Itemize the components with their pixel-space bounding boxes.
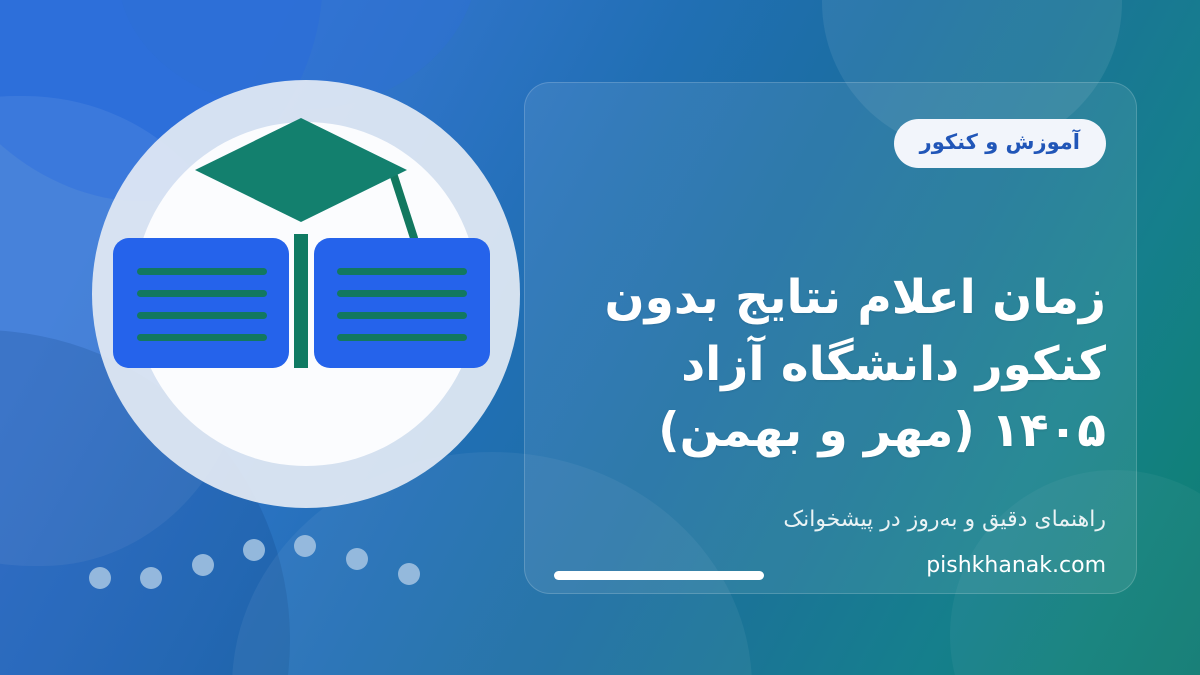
accent-bar bbox=[554, 571, 764, 580]
content-card: آموزش و کنکور زمان اعلام نتایج بدون کنکو… bbox=[524, 82, 1137, 594]
decorative-dot bbox=[140, 567, 162, 589]
page-subtitle: راهنمای دقیق و به‌روز در پیشخوانک bbox=[566, 503, 1106, 536]
graduation-cap-open-book-icon bbox=[92, 80, 520, 508]
page-title: زمان اعلام نتایج بدون کنکور دانشگاه آزاد… bbox=[566, 265, 1106, 465]
icon-medallion bbox=[92, 80, 520, 508]
decorative-dot bbox=[89, 567, 111, 589]
decorative-dot bbox=[398, 563, 420, 585]
cover-canvas: آموزش و کنکور زمان اعلام نتایج بدون کنکو… bbox=[0, 0, 1200, 675]
decorative-dot bbox=[243, 539, 265, 561]
category-badge[interactable]: آموزش و کنکور bbox=[894, 119, 1106, 168]
decorative-dot bbox=[192, 554, 214, 576]
decorative-dot bbox=[294, 535, 316, 557]
decorative-dot bbox=[346, 548, 368, 570]
